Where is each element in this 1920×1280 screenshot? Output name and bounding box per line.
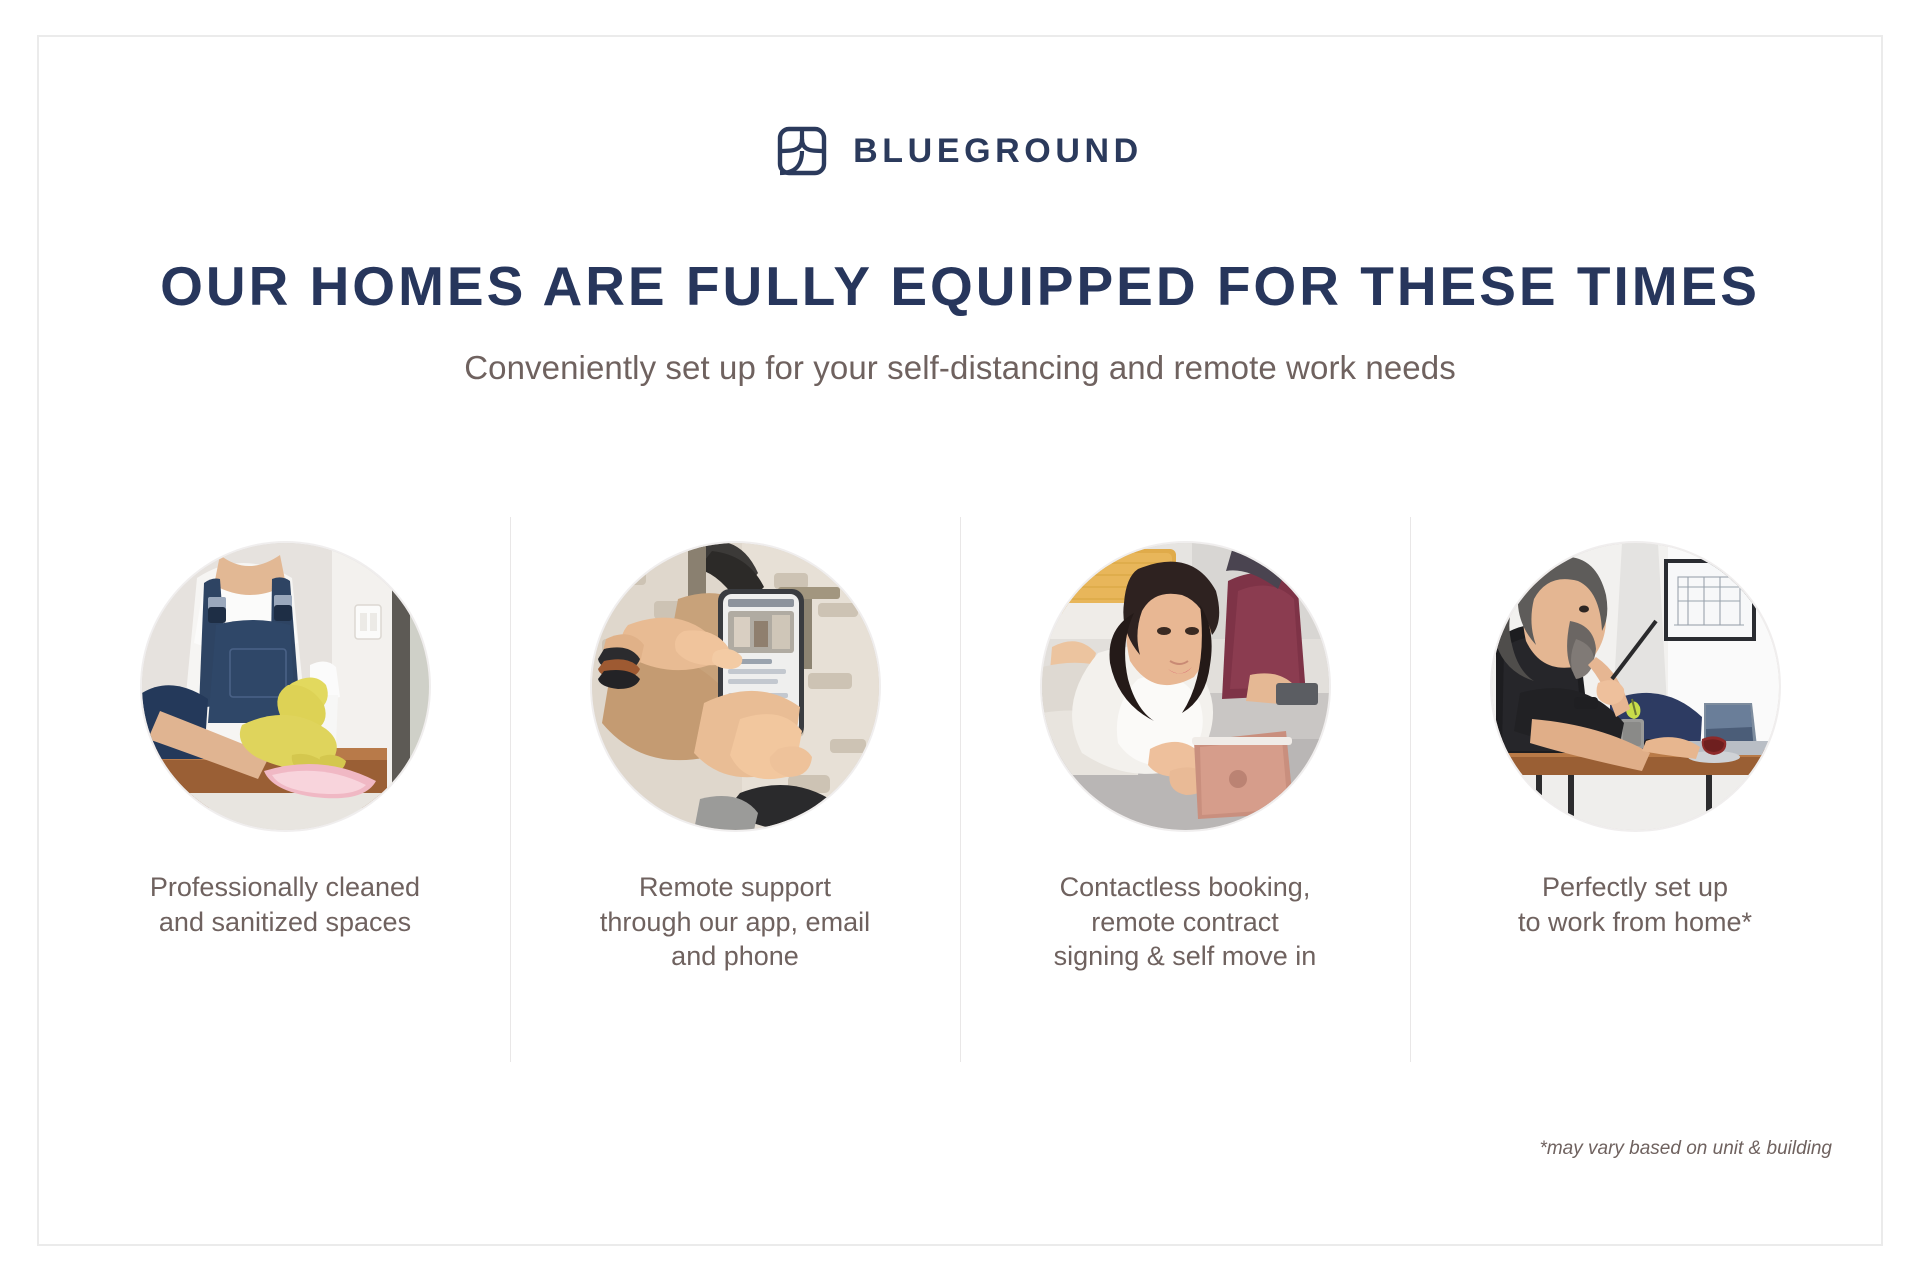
blueground-square-logo-icon (777, 126, 827, 176)
feature-columns: Professionally cleaned and sanitized spa… (60, 517, 1860, 1062)
brand-wordmark: BLUEGROUND (853, 134, 1143, 168)
marketing-infographic-page: BLUEGROUND OUR HOMES ARE FULLY EQUIPPED … (0, 0, 1920, 1280)
photo-cleaning-person-with-gloves (142, 543, 429, 830)
brand-logo: BLUEGROUND (0, 126, 1920, 176)
feature-column-contactless-booking: Contactless booking, remote contract sig… (960, 517, 1410, 1062)
caption-line-3: and phone (570, 939, 900, 974)
feature-column-remote-support: Remote support through our app, email an… (510, 517, 960, 1062)
caption-line-2: to work from home* (1470, 905, 1800, 940)
feature-caption: Perfectly set up to work from home* (1470, 870, 1800, 939)
caption-line-1: Perfectly set up (1470, 870, 1800, 905)
caption-line-1: Professionally cleaned (120, 870, 450, 905)
caption-line-2: remote contract (1020, 905, 1350, 940)
caption-line-1: Remote support (570, 870, 900, 905)
page-subtitle: Conveniently set up for your self-distan… (0, 348, 1920, 388)
feature-caption: Contactless booking, remote contract sig… (1020, 870, 1350, 974)
caption-line-1: Contactless booking, (1020, 870, 1350, 905)
caption-line-2: through our app, email (570, 905, 900, 940)
feature-column-cleaning: Professionally cleaned and sanitized spa… (60, 517, 510, 1062)
photo-man-working-at-desk-laptop (1492, 543, 1779, 830)
caption-line-2: and sanitized spaces (120, 905, 450, 940)
feature-caption: Remote support through our app, email an… (570, 870, 900, 974)
photo-hands-holding-phone-app (592, 543, 879, 830)
page-title: OUR HOMES ARE FULLY EQUIPPED FOR THESE T… (0, 258, 1920, 316)
caption-line-3: signing & self move in (1020, 939, 1350, 974)
feature-column-work-from-home: Perfectly set up to work from home* (1410, 517, 1860, 1062)
photo-woman-on-bed-with-tablet (1042, 543, 1329, 830)
footnote-disclaimer: *may vary based on unit & building (1539, 1138, 1832, 1160)
feature-caption: Professionally cleaned and sanitized spa… (120, 870, 450, 939)
